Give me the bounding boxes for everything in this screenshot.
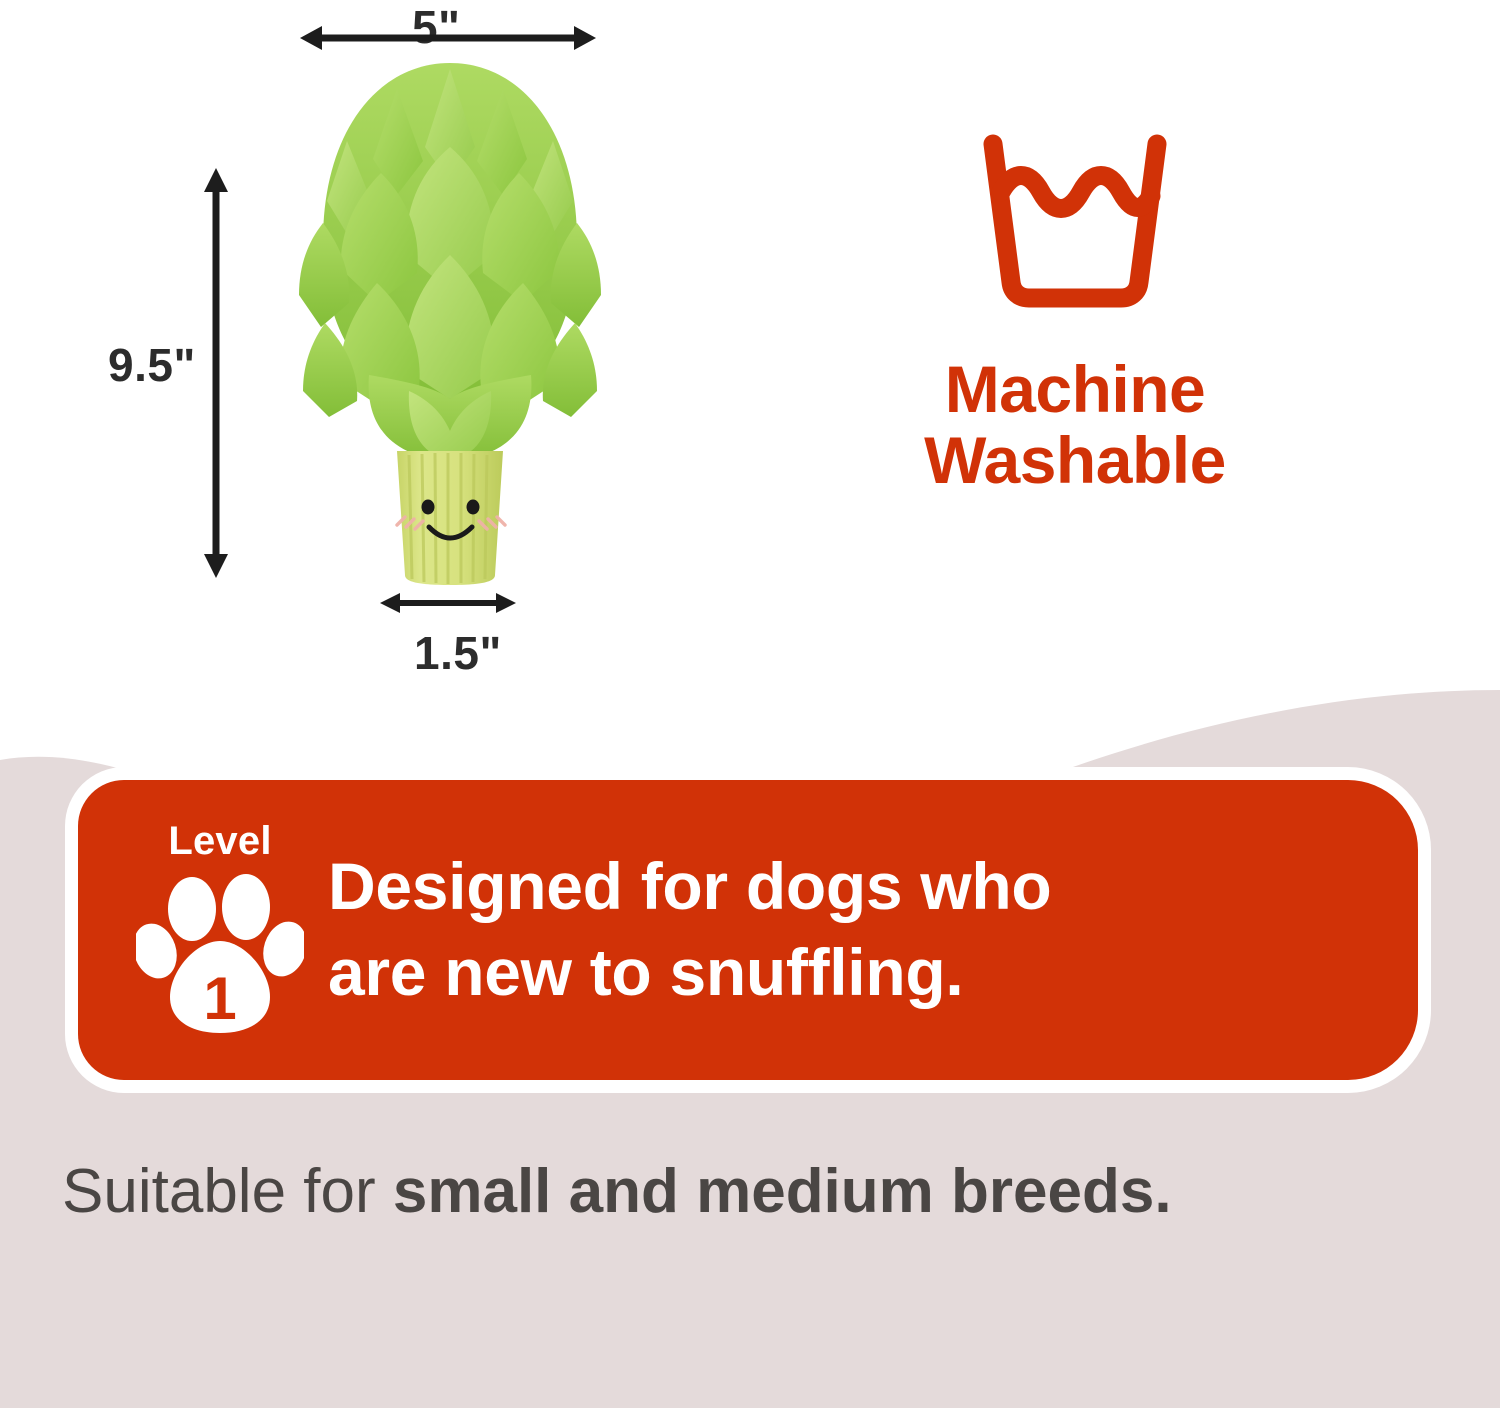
machine-wash-basin-icon (977, 130, 1173, 310)
dimension-width-bottom-label: 1.5" (414, 626, 502, 680)
level-banner-line2: are new to snuffling. (328, 930, 1051, 1016)
machine-washable-line1: Machine (860, 354, 1290, 425)
suitability-caption-prefix: Suitable for (62, 1157, 393, 1226)
machine-washable-text: Machine Washable (860, 354, 1290, 497)
level-banner-surface: Level 1 Designed for dogs who are new to… (78, 780, 1418, 1080)
artichoke-plush-illustration (285, 55, 615, 585)
suitability-caption: Suitable for small and medium breeds. (62, 1158, 1462, 1226)
product-infographic: 5" 9.5" 1.5" (0, 0, 1500, 1408)
dimension-arrow-horizontal-top (300, 18, 596, 58)
level-badge: Level 1 (78, 821, 328, 1039)
dimension-arrow-vertical-left (196, 168, 236, 578)
machine-washable-line2: Washable (860, 425, 1290, 496)
level-badge-label: Level (168, 821, 271, 861)
suitability-caption-emphasis: small and medium breeds. (393, 1157, 1172, 1226)
machine-washable-block: Machine Washable (860, 130, 1290, 497)
dimension-arrow-horizontal-bottom (380, 586, 516, 620)
dimension-height-label: 9.5" (108, 338, 196, 392)
level-banner-text: Designed for dogs who are new to snuffli… (328, 844, 1091, 1016)
product-image (285, 55, 615, 585)
level-badge-number: 1 (203, 965, 236, 1032)
level-banner: Level 1 Designed for dogs who are new to… (78, 780, 1418, 1080)
paw-print-icon: 1 (136, 867, 304, 1039)
level-banner-line1: Designed for dogs who (328, 844, 1051, 930)
